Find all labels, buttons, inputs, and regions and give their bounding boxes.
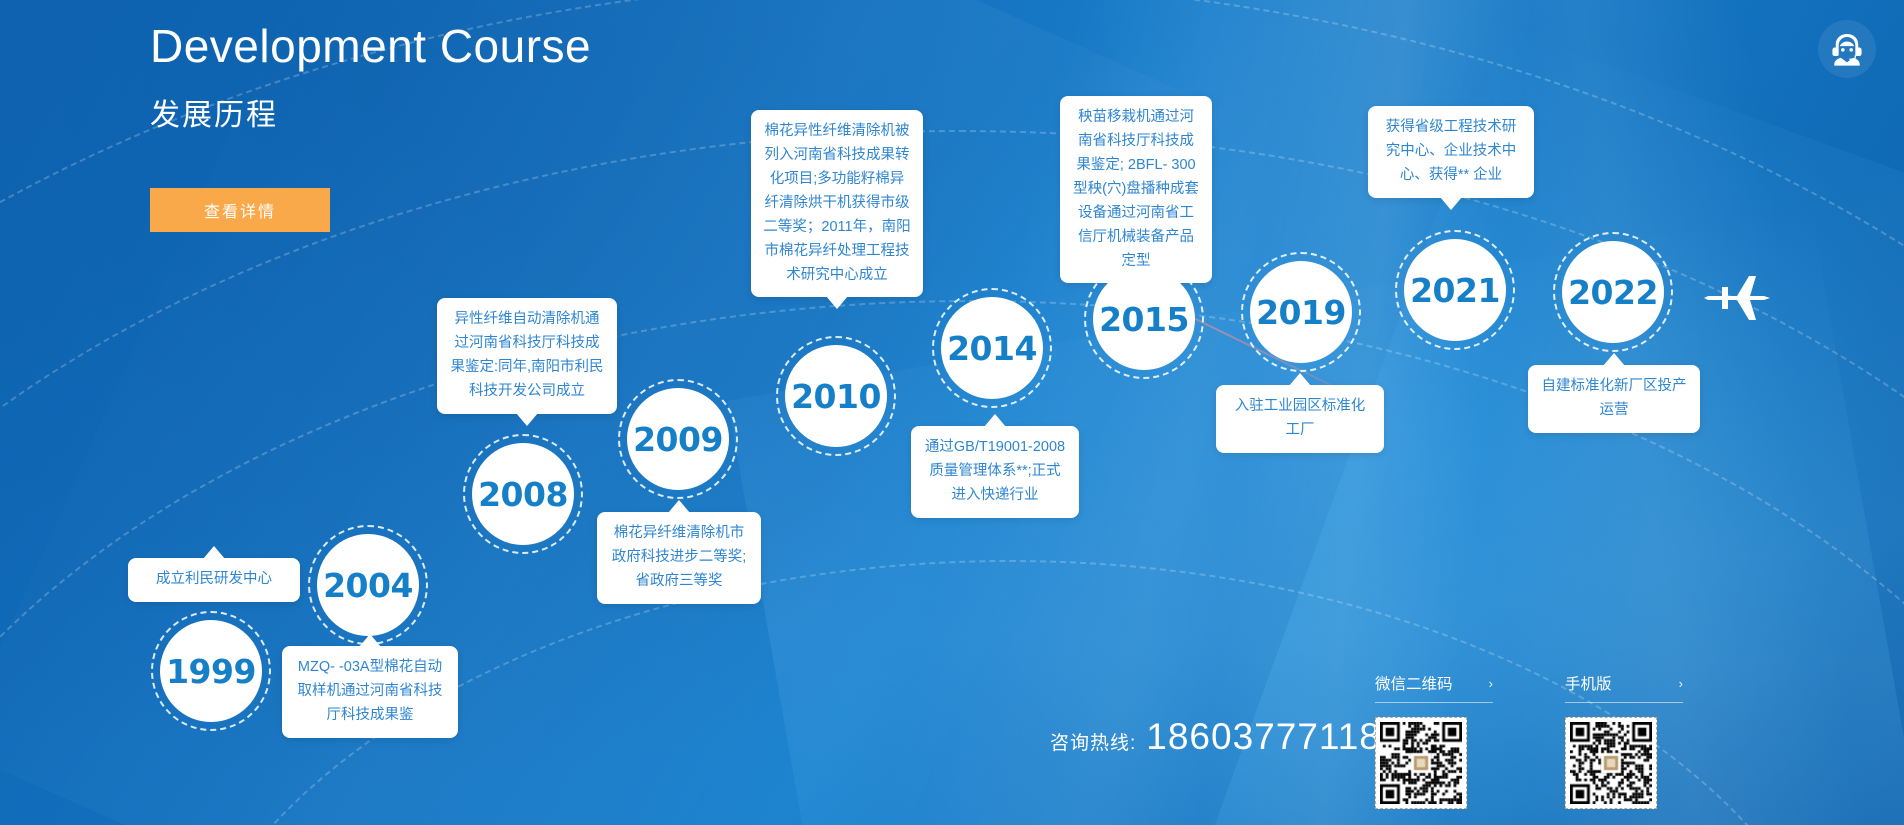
milestone-node-2004[interactable]: 2004 (317, 534, 419, 636)
wechat-qr-image (1375, 717, 1467, 809)
milestone-year-label: 2014 (947, 329, 1037, 368)
milestone-node-2010[interactable]: 2010 (785, 345, 887, 447)
milestone-caption-1999[interactable]: 成立利民研发中心 (128, 558, 300, 602)
page-title-en: Development Course (150, 18, 591, 76)
milestone-node-2015[interactable]: 2015 (1093, 268, 1195, 370)
chevron-right-icon: › (1679, 676, 1683, 691)
page-title-cn: 发展历程 (150, 90, 591, 134)
milestone-year-label: 2008 (478, 475, 568, 514)
milestone-node-2009[interactable]: 2009 (627, 388, 729, 490)
qr-label: 微信二维码 (1375, 672, 1453, 694)
qr-header-wechat[interactable]: 微信二维码 › (1375, 672, 1493, 703)
milestone-year-label: 2015 (1099, 300, 1189, 339)
customer-service-button[interactable] (1818, 20, 1876, 78)
bubble-tail-icon (984, 414, 1006, 427)
milestone-caption-2019[interactable]: 入驻工业园区标准化工厂 (1216, 385, 1384, 453)
milestone-caption-2014[interactable]: 通过GB/T19001-2008质量管理体系**;正式进入快递行业 (911, 426, 1079, 518)
bubble-tail-icon (668, 500, 690, 513)
milestone-caption-2004[interactable]: MZQ- -03A型棉花自动取样机通过河南省科技厅科技成果鉴 (282, 646, 458, 738)
milestone-year-label: 2021 (1410, 271, 1500, 310)
chevron-right-icon: › (1489, 676, 1493, 691)
hotline-block: 咨询热线: 18603777118 (1050, 716, 1381, 758)
milestone-year-label: 2022 (1568, 273, 1658, 312)
milestone-caption-2008[interactable]: 异性纤维自动清除机通过河南省科技厅科技成果鉴定:同年,南阳市利民科技开发公司成立 (437, 298, 617, 414)
milestone-year-label: 2010 (791, 377, 881, 416)
mobile-qr-image (1565, 717, 1657, 809)
milestone-node-2022[interactable]: 2022 (1562, 241, 1664, 343)
headset-support-icon (1827, 29, 1867, 69)
view-details-button[interactable]: 查看详情 (150, 188, 330, 232)
qr-group-mobile: 手机版 › (1565, 672, 1683, 809)
bubble-tail-icon (826, 296, 848, 309)
hotline-number: 18603777118 (1146, 716, 1381, 758)
milestone-node-2021[interactable]: 2021 (1404, 239, 1506, 341)
airplane-icon (1700, 272, 1772, 324)
milestone-year-label: 2019 (1256, 293, 1346, 332)
milestone-node-2014[interactable]: 2014 (941, 297, 1043, 399)
bubble-tail-icon (1440, 197, 1462, 210)
qr-group-wechat: 微信二维码 › (1375, 672, 1493, 809)
milestone-node-2008[interactable]: 2008 (472, 443, 574, 545)
bubble-tail-icon (203, 546, 225, 559)
bubble-tail-icon (1289, 373, 1311, 386)
milestone-caption-2010[interactable]: 棉花异性纤维清除机被列入河南省科技成果转化项目;多功能籽棉异纤清除烘干机获得市级… (751, 110, 923, 297)
bubble-tail-icon (1603, 353, 1625, 366)
milestone-caption-2021[interactable]: 获得省级工程技术研究中心、企业技术中心、获得** 企业 (1368, 106, 1534, 198)
milestone-year-label: 2004 (323, 566, 413, 605)
milestone-node-1999[interactable]: 1999 (160, 620, 262, 722)
milestone-caption-2022[interactable]: 自建标准化新厂区投产运营 (1528, 365, 1700, 433)
development-course-page: Development Course 发展历程 查看详情 成立利民研发中心 19… (0, 0, 1904, 825)
milestone-caption-2015[interactable]: 秧苗移栽机通过河南省科技厅科技成果鉴定; 2BFL- 300型秧(穴)盘播种成套… (1060, 96, 1212, 283)
milestone-caption-2009[interactable]: 棉花异纤维清除机市政府科技进步二等奖;省政府三等奖 (597, 512, 761, 604)
page-header: Development Course 发展历程 (150, 18, 591, 134)
qr-label: 手机版 (1565, 672, 1612, 694)
qr-header-mobile[interactable]: 手机版 › (1565, 672, 1683, 703)
milestone-year-label: 1999 (166, 652, 256, 691)
milestone-node-2019[interactable]: 2019 (1250, 261, 1352, 363)
hotline-label: 咨询热线: (1050, 728, 1136, 755)
milestone-year-label: 2009 (633, 420, 723, 459)
bubble-tail-icon (516, 413, 538, 426)
